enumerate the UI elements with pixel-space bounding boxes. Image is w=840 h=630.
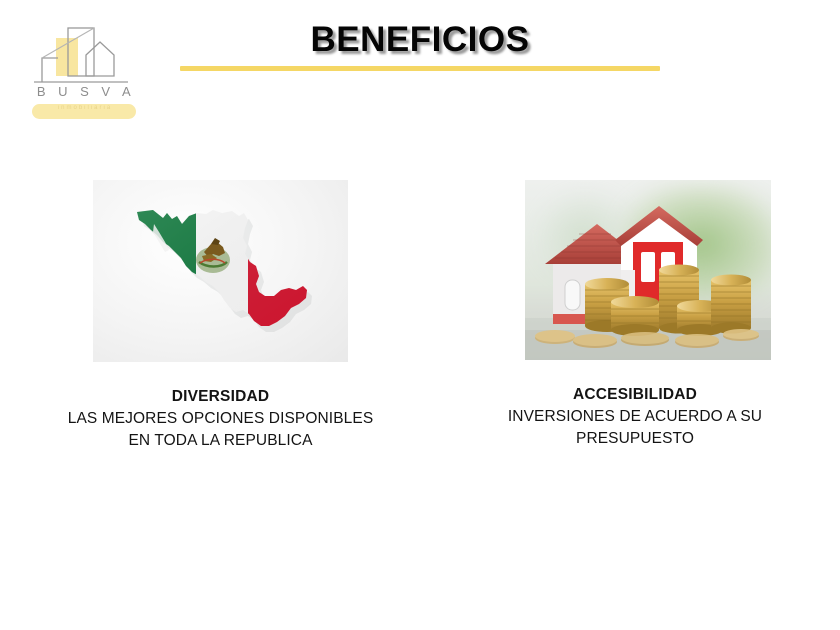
logo-wordmark: B U S V A xyxy=(28,84,140,99)
mexico-map-flag-photo xyxy=(93,180,348,362)
page-title: BENEFICIOS xyxy=(180,20,660,60)
benefit-column-accesibilidad: ACCESIBILIDAD INVERSIONES DE ACUERDO A S… xyxy=(460,180,810,450)
benefit-heading: DIVERSIDAD xyxy=(28,386,413,408)
benefit-caption-diversidad: DIVERSIDAD LAS MEJORES OPCIONES DISPONIB… xyxy=(28,386,413,452)
house-and-coins-photo xyxy=(525,180,771,360)
benefit-heading: ACCESIBILIDAD xyxy=(460,384,810,406)
benefit-line-2: PRESUPUESTO xyxy=(460,428,810,450)
slide-canvas: B U S V A inmobiliaria BENEFICIOS xyxy=(0,0,840,630)
building-outline-logo-icon xyxy=(28,22,140,88)
benefit-column-diversidad: DIVERSIDAD LAS MEJORES OPCIONES DISPONIB… xyxy=(28,180,413,452)
title-underline-rule xyxy=(180,66,660,71)
benefit-line-2: EN TODA LA REPUBLICA xyxy=(28,430,413,452)
logo-tagline: inmobiliaria xyxy=(32,105,136,111)
benefit-caption-accesibilidad: ACCESIBILIDAD INVERSIONES DE ACUERDO A S… xyxy=(460,384,810,450)
logo-tagline-highlight: inmobiliaria xyxy=(32,104,136,119)
benefit-line-1: INVERSIONES DE ACUERDO A SU xyxy=(460,406,810,428)
benefit-line-1: LAS MEJORES OPCIONES DISPONIBLES xyxy=(28,408,413,430)
company-logo: B U S V A inmobiliaria xyxy=(28,22,140,122)
